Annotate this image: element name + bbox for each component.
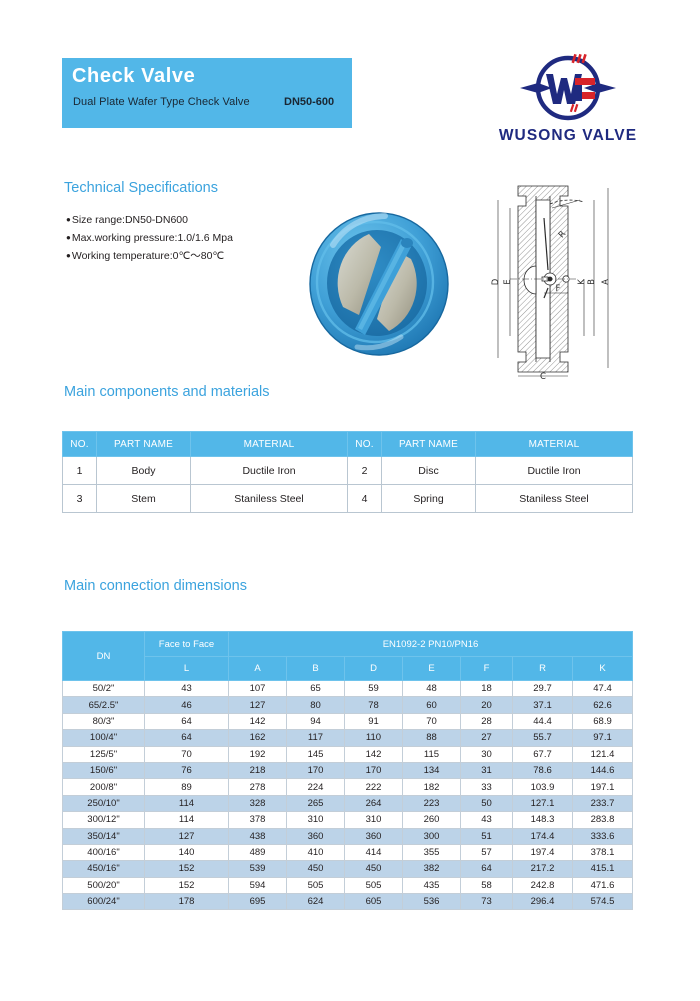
cell-K: 415.1 bbox=[573, 861, 633, 877]
cell-L: 64 bbox=[145, 713, 229, 729]
cell-B: 170 bbox=[287, 762, 345, 778]
cell-dn: 300/12" bbox=[63, 812, 145, 828]
cell-D: 450 bbox=[345, 861, 403, 877]
table-row: 600/24"17869562460553673296.4574.5 bbox=[63, 894, 633, 910]
spec-text: Working temperature:0℃～80℃ bbox=[72, 250, 224, 262]
cell-dn: 600/24" bbox=[63, 894, 145, 910]
bullet-icon: ● bbox=[66, 251, 71, 260]
cell-D: 78 bbox=[345, 697, 403, 713]
cell-B: 450 bbox=[287, 861, 345, 877]
spec-text: Max.working pressure:1.0/1.6 Mpa bbox=[72, 232, 233, 244]
cell-F: 30 bbox=[461, 746, 513, 762]
cell-L: 152 bbox=[145, 861, 229, 877]
cell-E: 134 bbox=[403, 762, 461, 778]
cell-B: 80 bbox=[287, 697, 345, 713]
table-row: 500/20"15259450550543558242.8471.6 bbox=[63, 877, 633, 893]
cell-dn: 450/16" bbox=[63, 861, 145, 877]
cell-F: 64 bbox=[461, 861, 513, 877]
cell-L: 114 bbox=[145, 795, 229, 811]
col-header-no-2: NO. bbox=[348, 432, 382, 457]
cell-dn: 200/8" bbox=[63, 779, 145, 795]
col-group-face-to-face: Face to Face bbox=[145, 632, 229, 657]
dim-label-D: D bbox=[491, 278, 501, 285]
section-heading-main-components: Main components and materials bbox=[64, 384, 270, 400]
cell-K: 378.1 bbox=[573, 844, 633, 860]
cell-K: 471.6 bbox=[573, 877, 633, 893]
cell-B: 145 bbox=[287, 746, 345, 762]
table-row: 250/10"11432826526422350127.1233.7 bbox=[63, 795, 633, 811]
cell-B: 310 bbox=[287, 812, 345, 828]
cell-L: 127 bbox=[145, 828, 229, 844]
cell-L: 46 bbox=[145, 697, 229, 713]
cell-F: 18 bbox=[461, 681, 513, 697]
cell-R: 127.1 bbox=[513, 795, 573, 811]
table-row: 100/4"64162117110882755.797.1 bbox=[63, 730, 633, 746]
cell-R: 67.7 bbox=[513, 746, 573, 762]
cell-L: 152 bbox=[145, 877, 229, 893]
dim-label-B: B bbox=[587, 279, 597, 285]
col-header-F: F bbox=[461, 657, 513, 681]
cell-L: 76 bbox=[145, 762, 229, 778]
header-banner: Check Valve Dual Plate Wafer Type Check … bbox=[62, 58, 352, 128]
cell-dn: 50/2" bbox=[63, 681, 145, 697]
cell-A: 192 bbox=[229, 746, 287, 762]
cell-D: 414 bbox=[345, 844, 403, 860]
table-row: 80/3"641429491702844.468.9 bbox=[63, 713, 633, 729]
dimensions-table: DN Face to Face EN1092-2 PN10/PN16 L A B… bbox=[62, 631, 633, 910]
col-header-dn: DN bbox=[63, 632, 145, 681]
cell-D: 360 bbox=[345, 828, 403, 844]
cell-A: 278 bbox=[229, 779, 287, 795]
cell-K: 197.1 bbox=[573, 779, 633, 795]
cell-R: 217.2 bbox=[513, 861, 573, 877]
cell-dn: 350/14" bbox=[63, 828, 145, 844]
col-header-part-name-2: PART NAME bbox=[382, 432, 476, 457]
cell-E: 260 bbox=[403, 812, 461, 828]
cell-D: 505 bbox=[345, 877, 403, 893]
cell-B: 265 bbox=[287, 795, 345, 811]
table-header-row: NO. PART NAME MATERIAL NO. PART NAME MAT… bbox=[63, 432, 633, 457]
cell-E: 70 bbox=[403, 713, 461, 729]
table-row: 150/6"762181701701343178.6144.6 bbox=[63, 762, 633, 778]
col-header-L: L bbox=[145, 657, 229, 681]
cell-dn: 250/10" bbox=[63, 795, 145, 811]
cell-E: 536 bbox=[403, 894, 461, 910]
table-row: 1 Body Ductile Iron 2 Disc Ductile Iron bbox=[63, 457, 633, 485]
cell-no: 1 bbox=[63, 457, 97, 485]
cell-D: 91 bbox=[345, 713, 403, 729]
cell-D: 264 bbox=[345, 795, 403, 811]
col-group-standard: EN1092-2 PN10/PN16 bbox=[229, 632, 633, 657]
cell-A: 438 bbox=[229, 828, 287, 844]
dim-label-K: K bbox=[577, 279, 587, 285]
components-table: NO. PART NAME MATERIAL NO. PART NAME MAT… bbox=[62, 431, 633, 513]
cell-A: 539 bbox=[229, 861, 287, 877]
cell-B: 360 bbox=[287, 828, 345, 844]
cell-E: 60 bbox=[403, 697, 461, 713]
col-header-no-1: NO. bbox=[63, 432, 97, 457]
wusong-w-circle-icon bbox=[518, 52, 618, 124]
cell-B: 624 bbox=[287, 894, 345, 910]
dim-label-E: E bbox=[503, 279, 513, 284]
logo-wordmark: WUSONG VALVE bbox=[483, 127, 653, 145]
dim-label-A: A bbox=[601, 279, 611, 285]
cell-R: 29.7 bbox=[513, 681, 573, 697]
cell-A: 695 bbox=[229, 894, 287, 910]
cell-B: 410 bbox=[287, 844, 345, 860]
cell-D: 310 bbox=[345, 812, 403, 828]
cell-B: 505 bbox=[287, 877, 345, 893]
cell-material: Staniless Steel bbox=[191, 485, 348, 513]
cell-F: 57 bbox=[461, 844, 513, 860]
cell-K: 97.1 bbox=[573, 730, 633, 746]
cell-B: 117 bbox=[287, 730, 345, 746]
cell-part-name: Spring bbox=[382, 485, 476, 513]
cell-R: 197.4 bbox=[513, 844, 573, 860]
cell-E: 88 bbox=[403, 730, 461, 746]
col-header-A: A bbox=[229, 657, 287, 681]
cell-E: 223 bbox=[403, 795, 461, 811]
cell-E: 382 bbox=[403, 861, 461, 877]
cell-A: 328 bbox=[229, 795, 287, 811]
cell-dn: 100/4" bbox=[63, 730, 145, 746]
cell-L: 140 bbox=[145, 844, 229, 860]
list-item: ●Size range:DN50-DN600 bbox=[66, 211, 326, 229]
cell-no: 4 bbox=[348, 485, 382, 513]
cell-K: 62.6 bbox=[573, 697, 633, 713]
section-heading-main-connection-dimensions: Main connection dimensions bbox=[64, 578, 247, 594]
cell-D: 222 bbox=[345, 779, 403, 795]
cell-R: 242.8 bbox=[513, 877, 573, 893]
col-header-material-1: MATERIAL bbox=[191, 432, 348, 457]
cell-E: 182 bbox=[403, 779, 461, 795]
cell-D: 605 bbox=[345, 894, 403, 910]
cell-dn: 150/6" bbox=[63, 762, 145, 778]
cell-D: 142 bbox=[345, 746, 403, 762]
cell-D: 59 bbox=[345, 681, 403, 697]
cell-B: 65 bbox=[287, 681, 345, 697]
table-row: 65/2.5"461278078602037.162.6 bbox=[63, 697, 633, 713]
section-heading-technical-specifications: Technical Specifications bbox=[64, 180, 218, 196]
cell-F: 43 bbox=[461, 812, 513, 828]
cell-K: 68.9 bbox=[573, 713, 633, 729]
cell-D: 110 bbox=[345, 730, 403, 746]
cell-A: 218 bbox=[229, 762, 287, 778]
cell-L: 178 bbox=[145, 894, 229, 910]
table-row: 450/16"15253945045038264217.2415.1 bbox=[63, 861, 633, 877]
cell-K: 121.4 bbox=[573, 746, 633, 762]
cell-R: 174.4 bbox=[513, 828, 573, 844]
technical-drawing-dimensions: D E F R K B A C bbox=[472, 178, 654, 380]
cell-L: 64 bbox=[145, 730, 229, 746]
table-header-row-group: DN Face to Face EN1092-2 PN10/PN16 bbox=[63, 632, 633, 657]
table-row: 300/12"11437831031026043148.3283.8 bbox=[63, 812, 633, 828]
cell-part-name: Stem bbox=[97, 485, 191, 513]
cell-F: 31 bbox=[461, 762, 513, 778]
cell-E: 435 bbox=[403, 877, 461, 893]
bullet-icon: ● bbox=[66, 215, 71, 224]
table-row: 50/2"431076559481829.747.4 bbox=[63, 681, 633, 697]
cell-L: 114 bbox=[145, 812, 229, 828]
col-header-R: R bbox=[513, 657, 573, 681]
cell-E: 115 bbox=[403, 746, 461, 762]
cell-L: 89 bbox=[145, 779, 229, 795]
cell-E: 48 bbox=[403, 681, 461, 697]
cell-K: 333.6 bbox=[573, 828, 633, 844]
cell-dn: 125/5" bbox=[63, 746, 145, 762]
header-size-range: DN50-600 bbox=[284, 96, 334, 108]
cell-F: 73 bbox=[461, 894, 513, 910]
cell-R: 78.6 bbox=[513, 762, 573, 778]
cell-A: 127 bbox=[229, 697, 287, 713]
cell-K: 574.5 bbox=[573, 894, 633, 910]
cell-no: 3 bbox=[63, 485, 97, 513]
cell-F: 27 bbox=[461, 730, 513, 746]
col-header-part-name-1: PART NAME bbox=[97, 432, 191, 457]
cell-no: 2 bbox=[348, 457, 382, 485]
cell-A: 142 bbox=[229, 713, 287, 729]
bullet-icon: ● bbox=[66, 233, 71, 242]
cell-F: 33 bbox=[461, 779, 513, 795]
cell-K: 283.8 bbox=[573, 812, 633, 828]
cell-R: 37.1 bbox=[513, 697, 573, 713]
table-row: 3 Stem Staniless Steel 4 Spring Staniles… bbox=[63, 485, 633, 513]
cell-R: 55.7 bbox=[513, 730, 573, 746]
cell-E: 355 bbox=[403, 844, 461, 860]
cell-E: 300 bbox=[403, 828, 461, 844]
table-row: 400/16"14048941041435557197.4378.1 bbox=[63, 844, 633, 860]
cell-material: Ductile Iron bbox=[476, 457, 633, 485]
cell-A: 162 bbox=[229, 730, 287, 746]
table-row: 200/8"8927822422218233103.9197.1 bbox=[63, 779, 633, 795]
cell-dn: 80/3" bbox=[63, 713, 145, 729]
table-row: 125/5"701921451421153067.7121.4 bbox=[63, 746, 633, 762]
cell-K: 233.7 bbox=[573, 795, 633, 811]
cell-dn: 65/2.5" bbox=[63, 697, 145, 713]
cell-A: 378 bbox=[229, 812, 287, 828]
header-subtitle: Dual Plate Wafer Type Check Valve bbox=[73, 96, 250, 108]
cell-B: 94 bbox=[287, 713, 345, 729]
dim-label-C: C bbox=[540, 372, 546, 380]
col-header-material-2: MATERIAL bbox=[476, 432, 633, 457]
cell-dn: 500/20" bbox=[63, 877, 145, 893]
page-title: Check Valve bbox=[72, 65, 195, 88]
cell-F: 28 bbox=[461, 713, 513, 729]
cell-R: 44.4 bbox=[513, 713, 573, 729]
dim-label-F: F bbox=[556, 284, 561, 294]
cell-part-name: Body bbox=[97, 457, 191, 485]
cell-material: Ductile Iron bbox=[191, 457, 348, 485]
cell-R: 103.9 bbox=[513, 779, 573, 795]
cell-F: 51 bbox=[461, 828, 513, 844]
col-header-B: B bbox=[287, 657, 345, 681]
product-photo-check-valve bbox=[303, 207, 455, 359]
company-logo: WUSONG VALVE bbox=[483, 52, 653, 152]
col-header-D: D bbox=[345, 657, 403, 681]
cell-D: 170 bbox=[345, 762, 403, 778]
table-header-row-sub: L A B D E F R K bbox=[63, 657, 633, 681]
technical-specifications-list: ●Size range:DN50-DN600 ●Max.working pres… bbox=[66, 211, 326, 265]
cell-A: 107 bbox=[229, 681, 287, 697]
col-header-E: E bbox=[403, 657, 461, 681]
cell-part-name: Disc bbox=[382, 457, 476, 485]
spec-text: Size range:DN50-DN600 bbox=[72, 214, 188, 226]
table-row: 350/14"12743836036030051174.4333.6 bbox=[63, 828, 633, 844]
cell-F: 50 bbox=[461, 795, 513, 811]
cell-R: 296.4 bbox=[513, 894, 573, 910]
list-item: ●Max.working pressure:1.0/1.6 Mpa bbox=[66, 229, 326, 247]
list-item: ●Working temperature:0℃～80℃ bbox=[66, 247, 326, 265]
cell-A: 594 bbox=[229, 877, 287, 893]
cell-B: 224 bbox=[287, 779, 345, 795]
cell-R: 148.3 bbox=[513, 812, 573, 828]
cell-K: 144.6 bbox=[573, 762, 633, 778]
cell-dn: 400/16" bbox=[63, 844, 145, 860]
cell-K: 47.4 bbox=[573, 681, 633, 697]
cell-A: 489 bbox=[229, 844, 287, 860]
cell-F: 58 bbox=[461, 877, 513, 893]
cell-L: 70 bbox=[145, 746, 229, 762]
cell-F: 20 bbox=[461, 697, 513, 713]
cell-material: Staniless Steel bbox=[476, 485, 633, 513]
col-header-K: K bbox=[573, 657, 633, 681]
cell-L: 43 bbox=[145, 681, 229, 697]
